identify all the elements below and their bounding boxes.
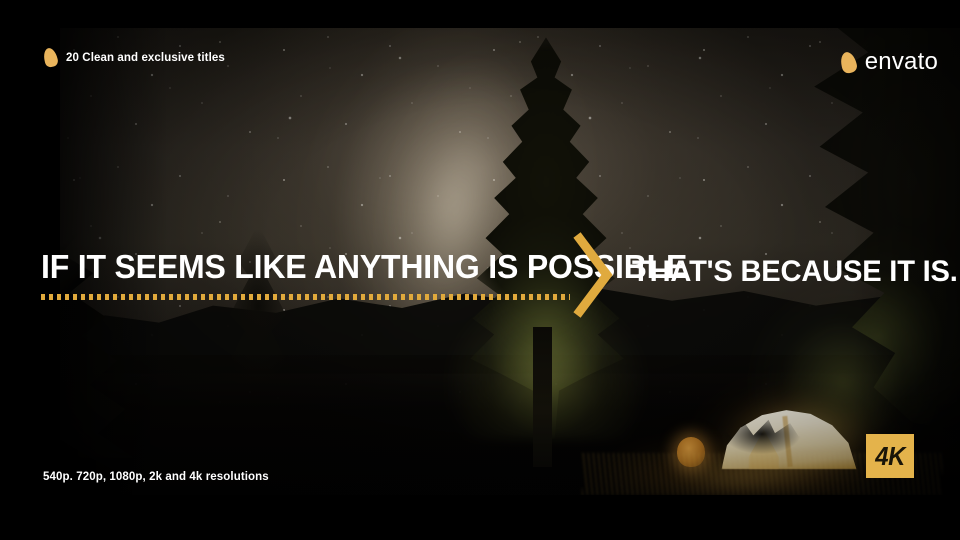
tree-center-trunk (533, 327, 552, 467)
feature-badge-label: 20 Clean and exclusive titles (66, 52, 225, 64)
resolutions-label: 540p. 720p, 1080p, 2k and 4k resolutions (43, 471, 269, 483)
envato-leaf-icon (42, 47, 59, 69)
quality-badge-4k: 4K (866, 434, 914, 478)
headline-right-text: THAT'S BECAUSE IT IS. (632, 257, 958, 287)
quality-badge-label: 4K (875, 443, 905, 469)
letterbox-bottom (0, 495, 960, 540)
letterbox-top (0, 0, 960, 28)
chevron-right-icon (573, 231, 613, 319)
feature-badge: 20 Clean and exclusive titles (44, 48, 225, 67)
headline-dotted-rule (41, 294, 570, 300)
video-preview-stage: 20 Clean and exclusive titles envato IF … (0, 0, 960, 540)
envato-wordmark: envato (865, 50, 938, 74)
envato-logo[interactable]: envato (841, 50, 938, 74)
envato-leaf-icon (838, 50, 858, 74)
headline-right-block: THAT'S BECAUSE IT IS. (632, 257, 960, 287)
